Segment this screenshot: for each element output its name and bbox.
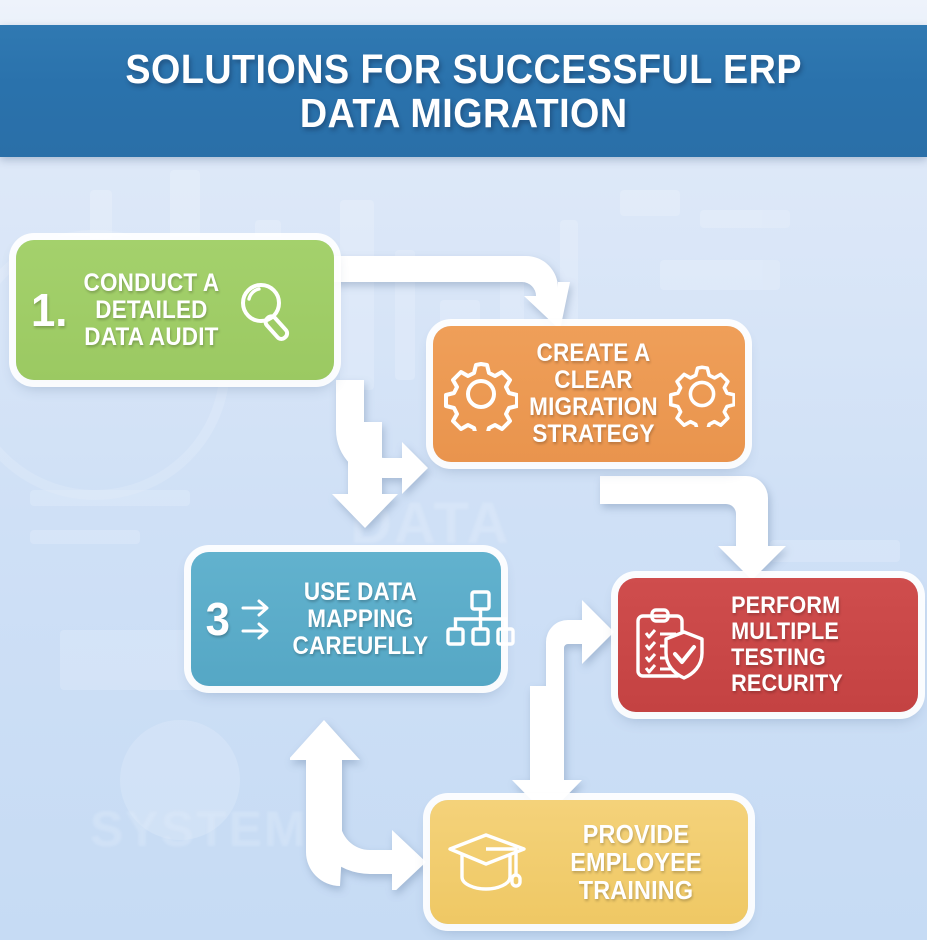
arrow-strategy-to-mapping	[330, 370, 450, 540]
double-arrow-icon	[241, 593, 275, 645]
step-card-perform-multiple-testing[interactable]: PERFORM MULTIPLE TESTING RECURITY	[618, 578, 918, 712]
step-label-2: CREATE A CLEAR MIGRATION STRATEGY	[529, 340, 658, 448]
gear-icon-secondary	[669, 361, 735, 427]
step-label-5: PROVIDE EMPLOYEE TRAINING	[550, 820, 723, 904]
page-title: SOLUTIONS FOR SUCCESSFUL ERP DATA MIGRAT…	[125, 47, 802, 136]
arrow-strategy-to-testing	[596, 470, 816, 590]
step-label-4: PERFORM MULTIPLE TESTING RECURITY	[731, 593, 895, 697]
hierarchy-icon	[445, 588, 515, 650]
step-card-conduct-data-audit[interactable]: 1. CONDUCT A DETAILED DATA AUDIT	[16, 240, 334, 380]
graduation-cap-icon	[446, 827, 530, 897]
step-card-provide-employee-training[interactable]: PROVIDE EMPLOYEE TRAINING	[430, 800, 748, 924]
arrow-training-to-mapping	[290, 700, 440, 890]
arrow-testing-to-training	[506, 590, 626, 820]
step-number-3: 3	[206, 596, 230, 642]
infographic-canvas: DATA ERP SYSTEM SOLUTIONS FOR SUCCESSFUL…	[0, 0, 927, 940]
clipboard-shield-icon	[632, 606, 708, 684]
gear-icon	[444, 357, 518, 431]
step-label-1: CONDUCT A DETAILED DATA AUDIT	[84, 270, 220, 351]
header-banner: SOLUTIONS FOR SUCCESSFUL ERP DATA MIGRAT…	[0, 25, 927, 157]
step-label-3: USE DATA MAPPING CAREUFLLY	[292, 579, 428, 660]
step-card-create-migration-strategy[interactable]: CREATE A CLEAR MIGRATION STRATEGY	[433, 326, 745, 462]
step-card-use-data-mapping[interactable]: 3 USE DATA MAPPING CAREUFLLY	[191, 552, 501, 686]
title-line-1: SOLUTIONS FOR SUCCESSFUL ERP	[125, 46, 802, 92]
arrow-audit-to-strategy	[326, 250, 586, 330]
step-number-1: 1.	[31, 287, 67, 333]
magnifier-icon	[235, 277, 301, 343]
title-line-2: DATA MIGRATION	[300, 90, 628, 136]
